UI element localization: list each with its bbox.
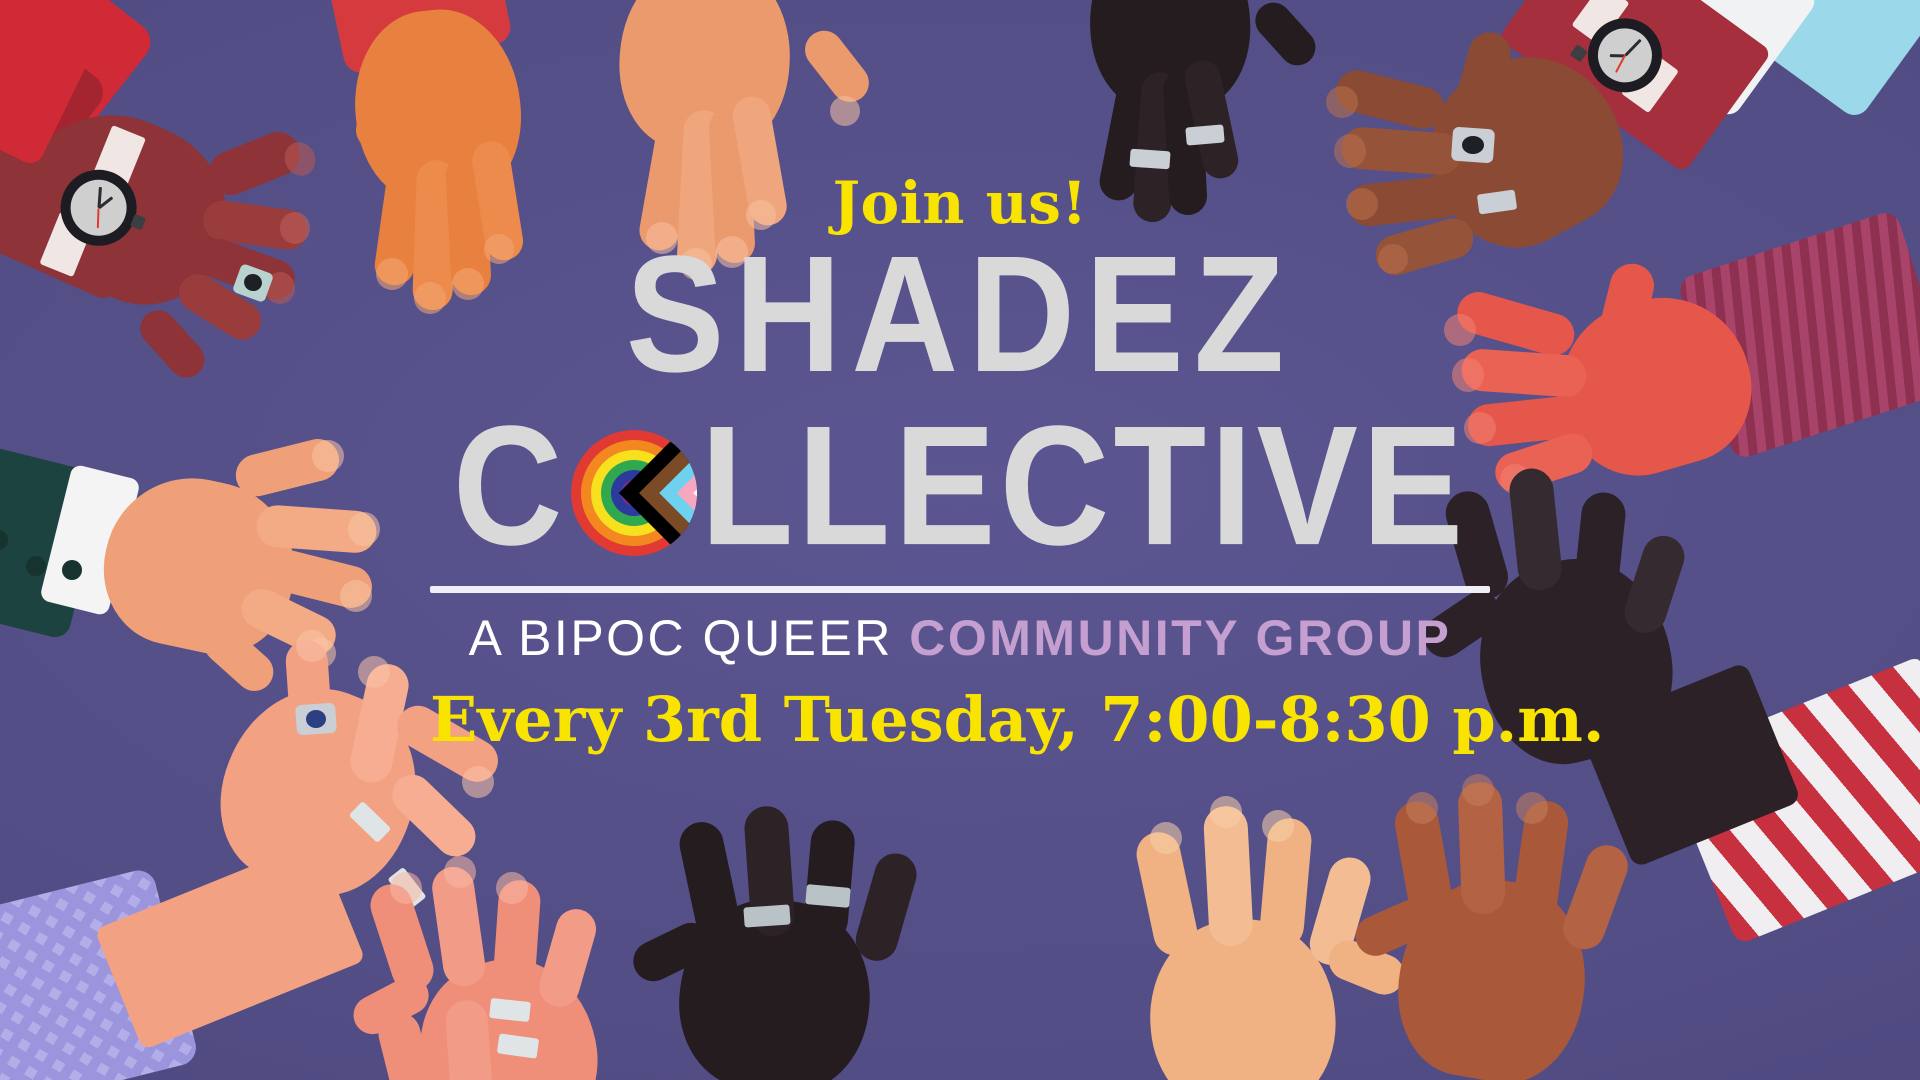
ring-icon — [805, 884, 851, 908]
cuff-button-icon — [62, 560, 82, 580]
tagline-bold-part: COMMUNITY GROUP — [909, 610, 1451, 666]
progress-pride-logo-icon — [571, 430, 697, 556]
ring-icon — [1185, 124, 1224, 145]
pride-chevron-icon — [571, 430, 697, 556]
ring-icon — [1129, 149, 1170, 170]
ring-gem-icon — [1462, 136, 1484, 154]
poster-lockup: Join us! SHADEZ C — [430, 174, 1490, 756]
title-line-collective: C — [430, 414, 1490, 560]
ring-gem-icon — [306, 710, 326, 728]
schedule-text: Every 3rd Tuesday, 7:00-8:30 p.m. — [430, 683, 1490, 756]
cuff-button-icon — [26, 556, 46, 576]
collective-prefix: C — [453, 405, 567, 568]
tagline-thin-part: A BIPOC QUEER — [469, 610, 910, 666]
ring-icon — [489, 998, 531, 1022]
poster-canvas: Join us! SHADEZ C — [0, 0, 1920, 1080]
tagline: A BIPOC QUEER COMMUNITY GROUP — [430, 609, 1490, 667]
page-title: SHADEZ — [430, 235, 1490, 394]
collective-suffix: LLECTIVE — [701, 405, 1468, 568]
divider-rule — [430, 586, 1490, 593]
ring-icon — [743, 904, 790, 927]
